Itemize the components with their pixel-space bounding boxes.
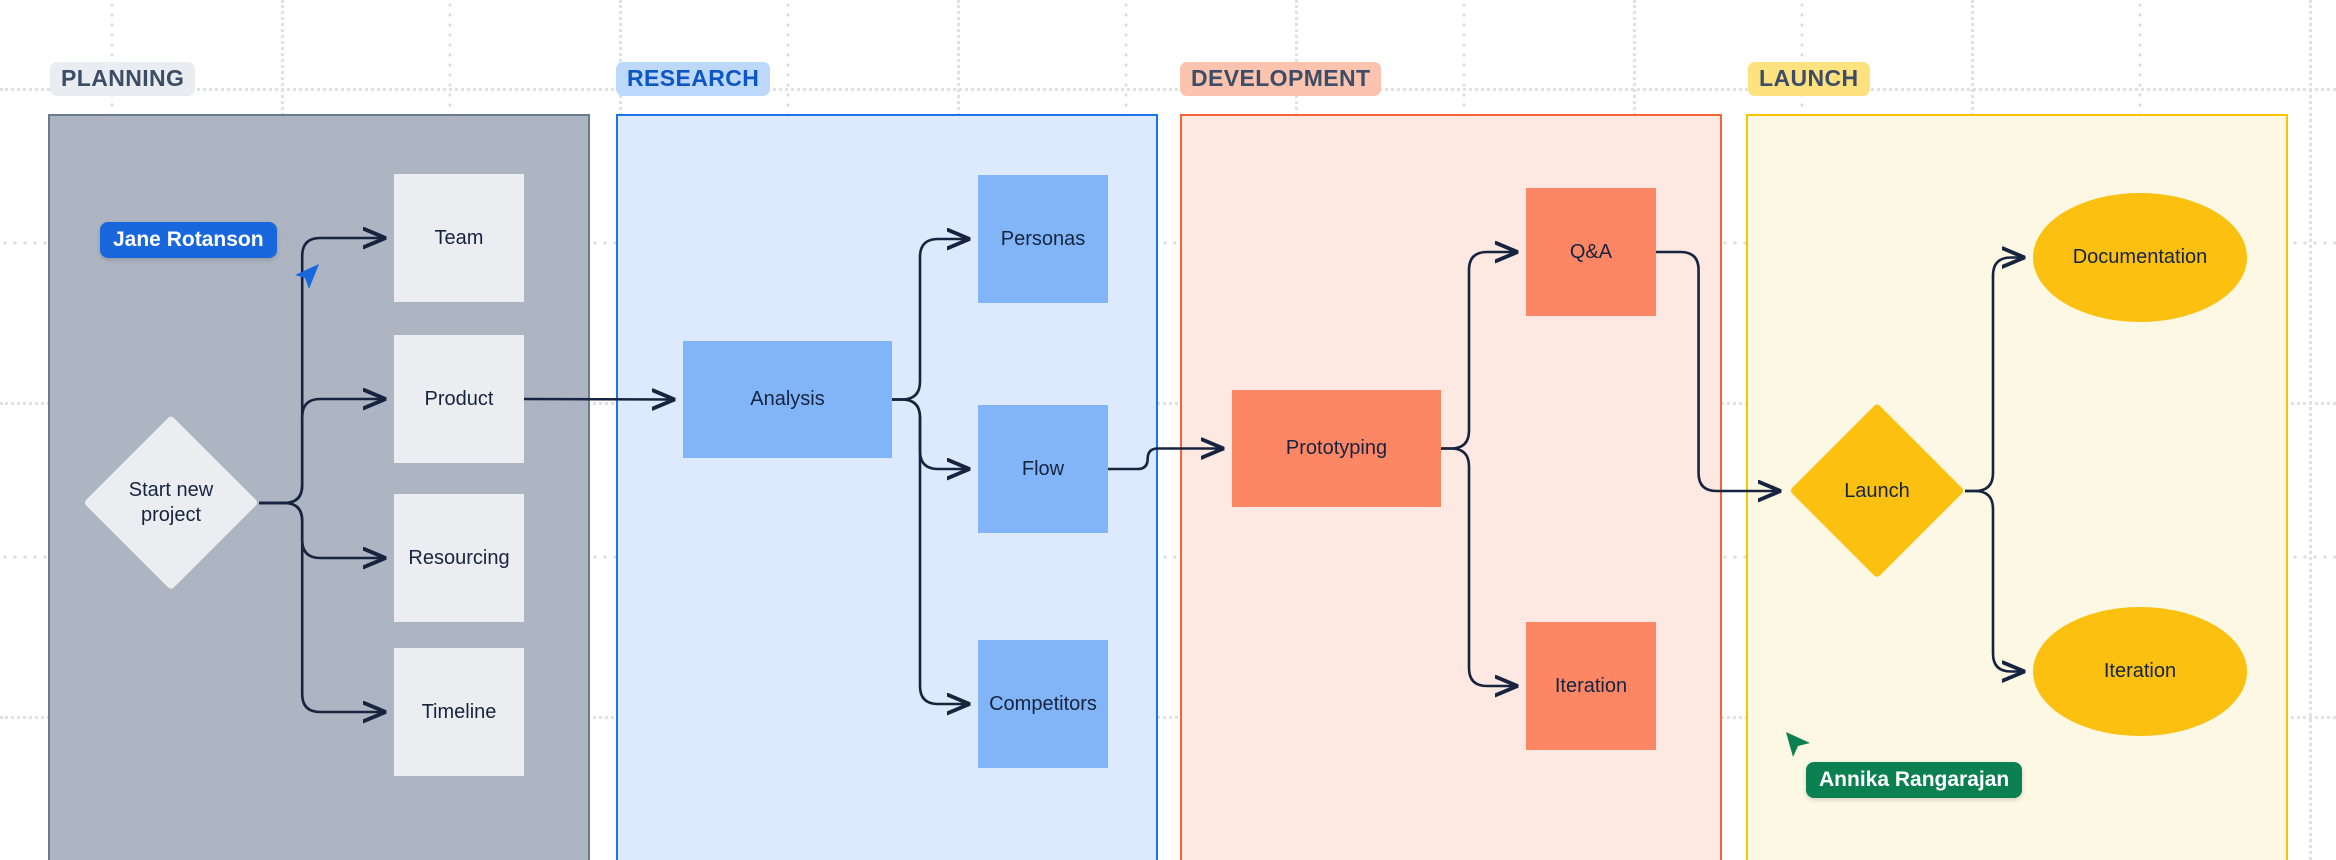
node-label: Flow bbox=[1022, 457, 1064, 482]
node-label: Personas bbox=[1001, 227, 1086, 252]
node-qa[interactable]: Q&A bbox=[1526, 188, 1656, 316]
node-label: Product bbox=[425, 387, 494, 412]
node-team[interactable]: Team bbox=[394, 174, 524, 302]
node-prototyping[interactable]: Prototyping bbox=[1232, 390, 1441, 507]
node-competitors[interactable]: Competitors bbox=[978, 640, 1108, 768]
node-analysis[interactable]: Analysis bbox=[683, 341, 892, 458]
whiteboard-canvas[interactable]: PLANNINGRESEARCHDEVELOPMENTLAUNCH Start … bbox=[0, 0, 2336, 860]
node-product[interactable]: Product bbox=[394, 335, 524, 463]
node-timeline[interactable]: Timeline bbox=[394, 648, 524, 776]
node-label: Team bbox=[435, 226, 484, 251]
node-label: Q&A bbox=[1570, 240, 1612, 265]
node-label: Documentation bbox=[2073, 245, 2208, 270]
node-resourcing[interactable]: Resourcing bbox=[394, 494, 524, 622]
grid-line-vertical bbox=[2309, 0, 2312, 860]
node-label: Resourcing bbox=[408, 546, 509, 571]
node-label: Competitors bbox=[989, 692, 1097, 717]
section-label-development[interactable]: DEVELOPMENT bbox=[1180, 62, 1381, 96]
section-label-research[interactable]: RESEARCH bbox=[616, 62, 770, 96]
node-flow[interactable]: Flow bbox=[978, 405, 1108, 533]
node-start[interactable]: Start newproject bbox=[83, 415, 259, 591]
node-label: Analysis bbox=[750, 387, 824, 412]
section-label-planning[interactable]: PLANNING bbox=[50, 62, 195, 96]
node-label: Prototyping bbox=[1286, 436, 1387, 461]
node-iteration_lau[interactable]: Iteration bbox=[2033, 607, 2247, 736]
node-launch_node[interactable]: Launch bbox=[1789, 403, 1965, 579]
node-label: Iteration bbox=[2104, 659, 2176, 684]
node-label: Iteration bbox=[1555, 674, 1627, 699]
cursor-badge-annika: Annika Rangarajan bbox=[1806, 762, 2022, 798]
cursor-badge-jane: Jane Rotanson bbox=[100, 222, 277, 258]
node-documentation[interactable]: Documentation bbox=[2033, 193, 2247, 322]
node-personas[interactable]: Personas bbox=[978, 175, 1108, 303]
node-iteration_dev[interactable]: Iteration bbox=[1526, 622, 1656, 750]
node-label: Timeline bbox=[422, 700, 497, 725]
section-label-launch[interactable]: LAUNCH bbox=[1748, 62, 1870, 96]
node-label: Start newproject bbox=[129, 478, 213, 528]
node-label: Launch bbox=[1844, 479, 1910, 504]
grid-line-horizontal bbox=[0, 88, 2336, 91]
